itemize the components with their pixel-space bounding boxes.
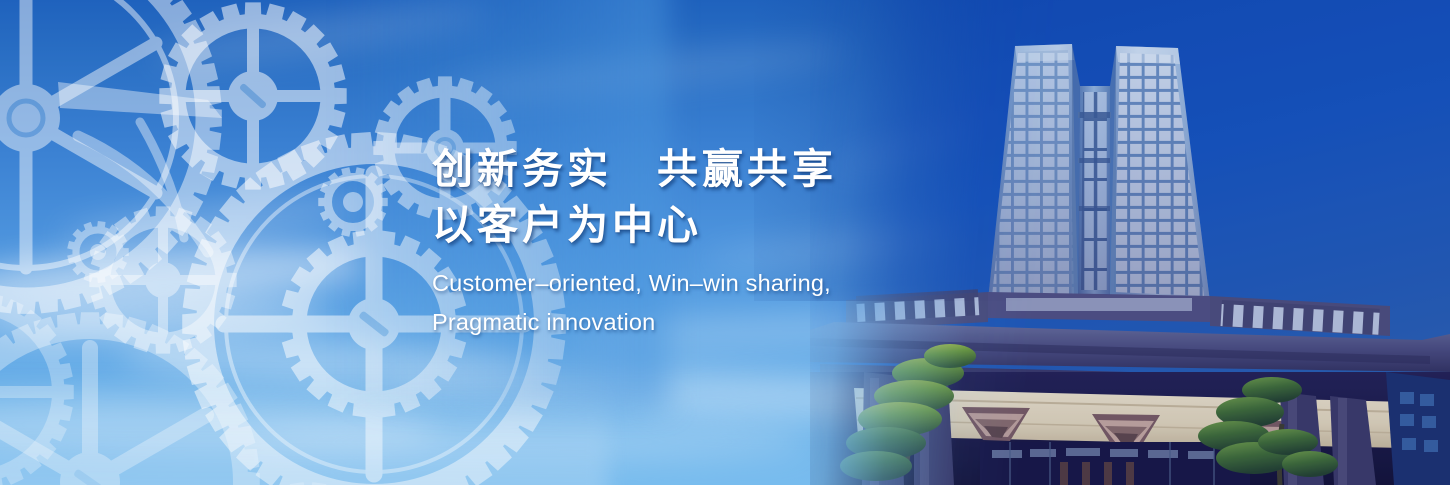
slogan-block: 创新务实 共赢共享 以客户为中心 Customer–oriented, Win–… — [432, 141, 837, 341]
subline-line-1: Customer–oriented, Win–win sharing, — [432, 265, 837, 302]
skyscraper-photo — [810, 0, 1450, 485]
subline-line-2: Pragmatic innovation — [432, 304, 837, 341]
headline-line-1: 创新务实 共赢共享 — [432, 141, 837, 197]
corporate-hero-banner: 创新务实 共赢共享 以客户为中心 Customer–oriented, Win–… — [0, 0, 1450, 485]
headline-line-2: 以客户为中心 — [432, 197, 837, 253]
